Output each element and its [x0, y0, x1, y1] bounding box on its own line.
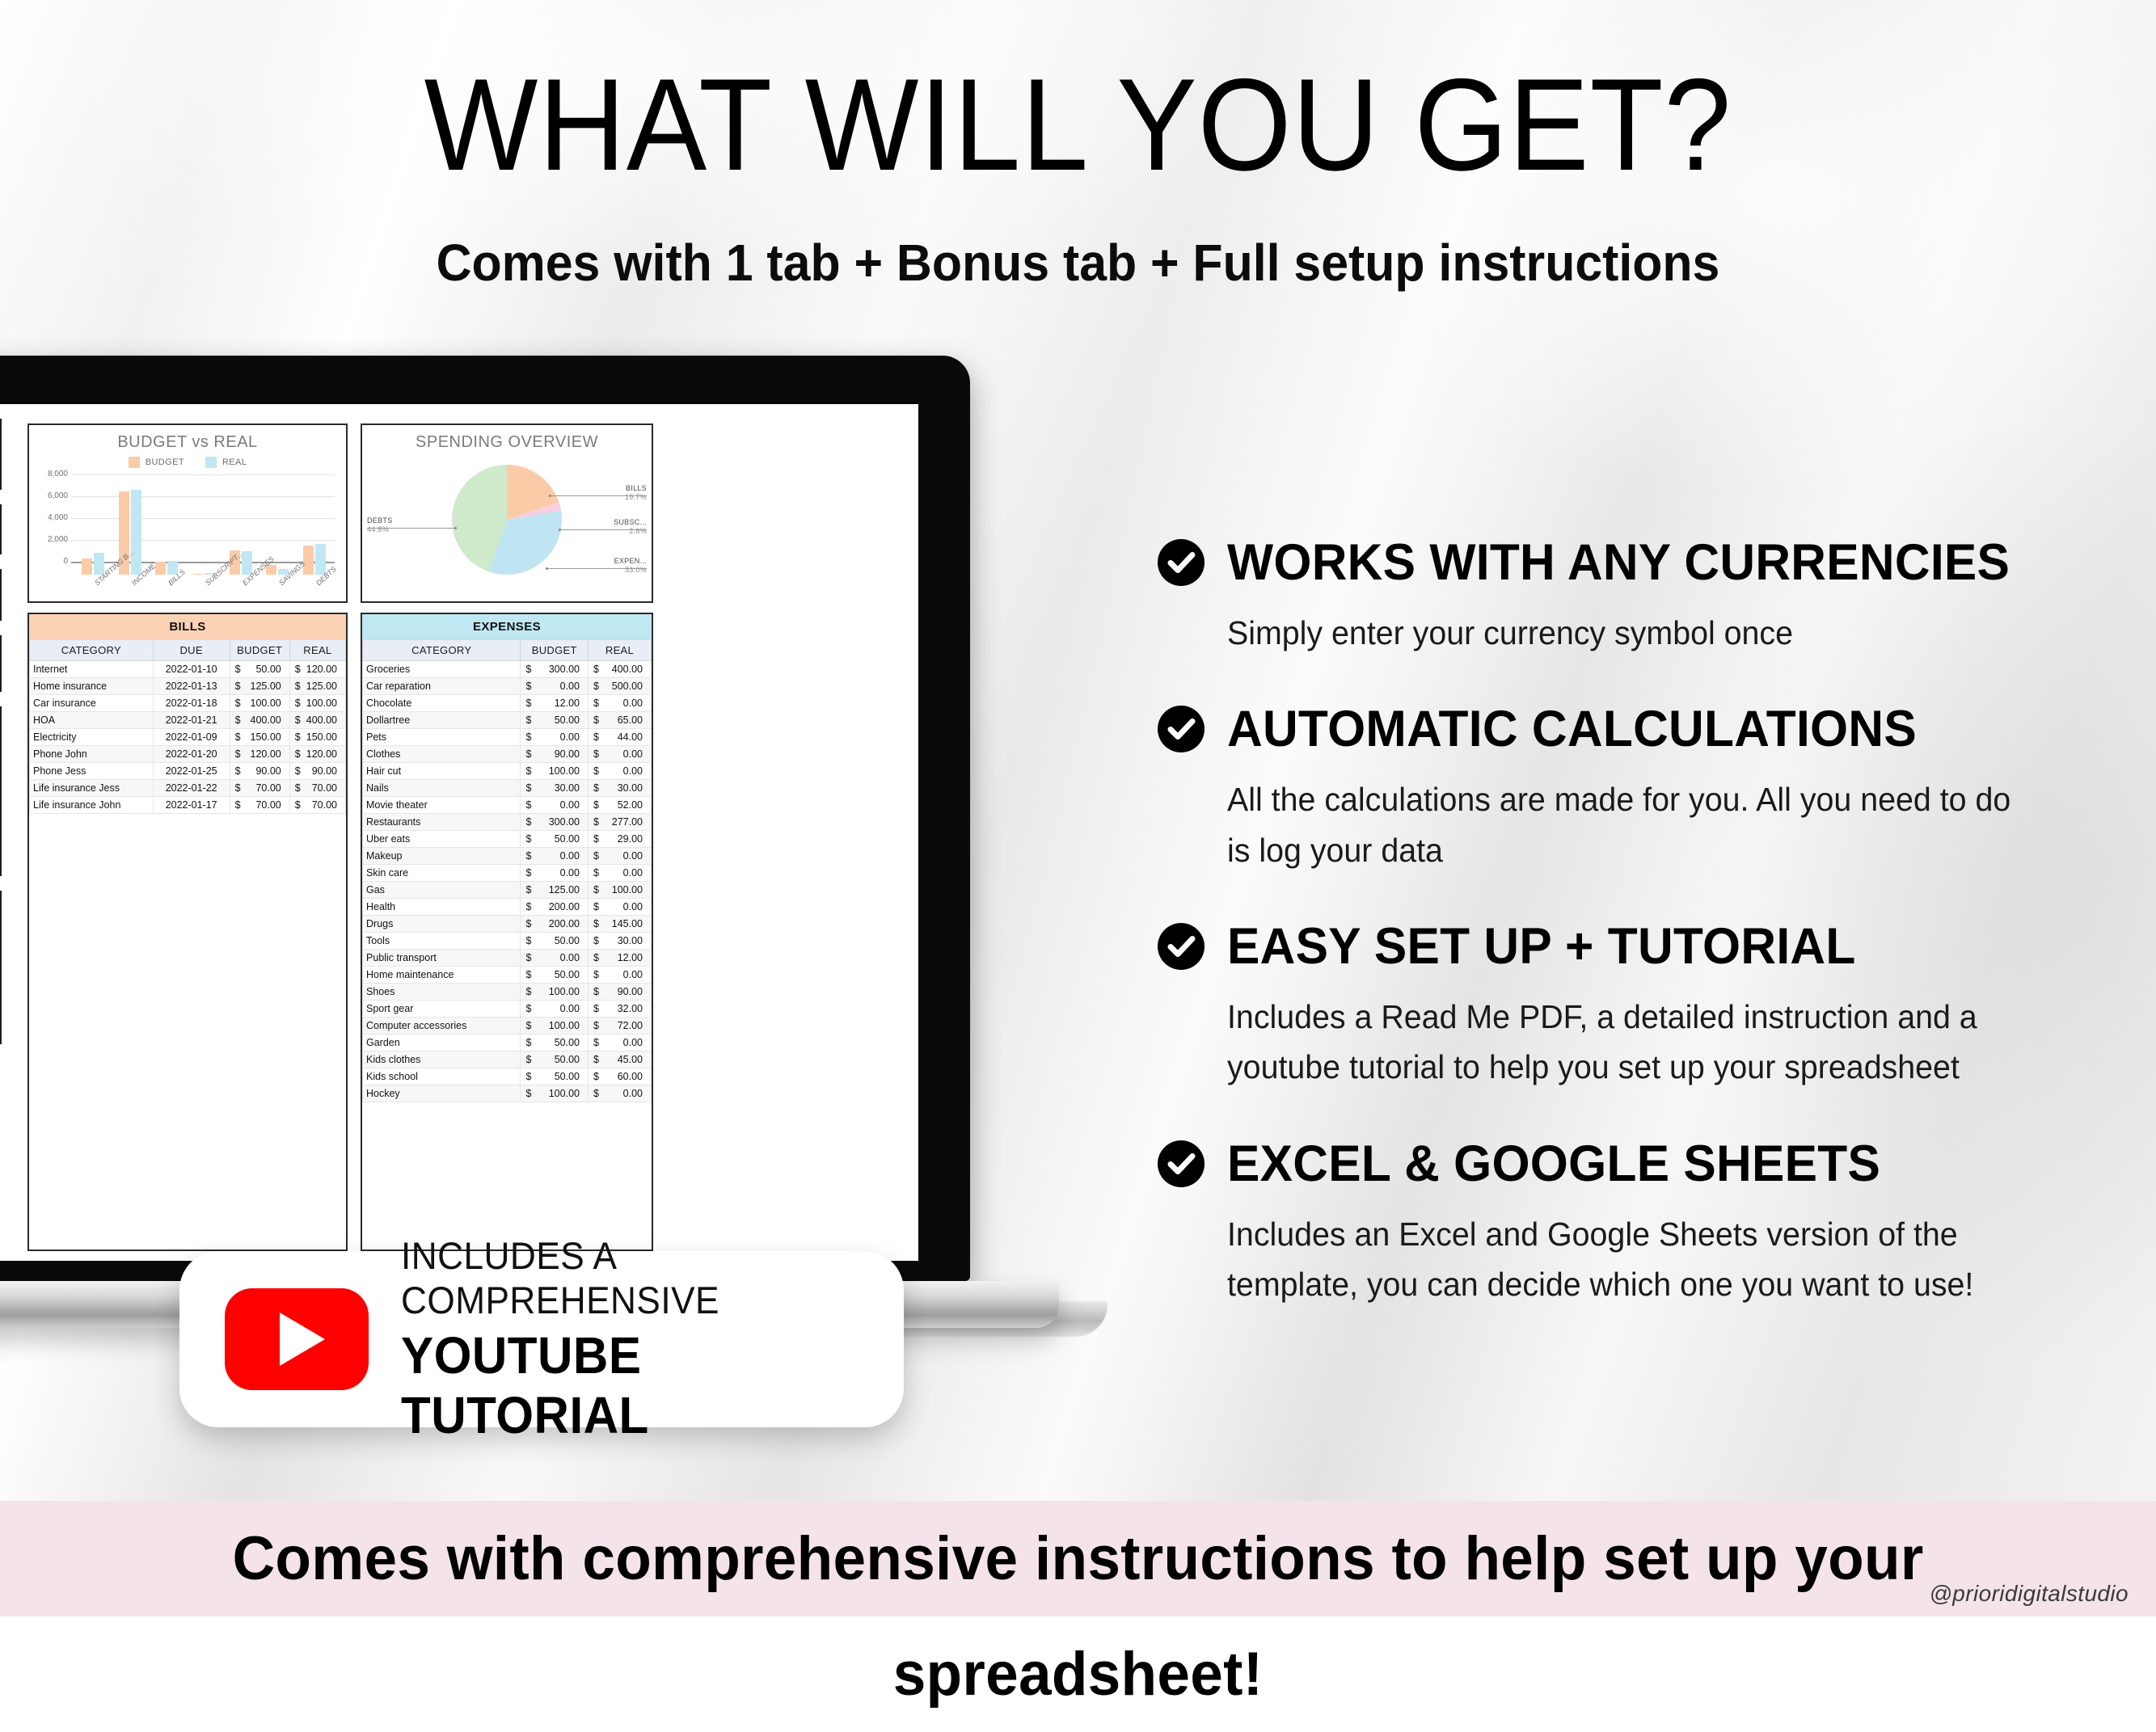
table-row: Uber eats$50.00$29.00: [363, 831, 652, 848]
cell-budget: $150.00: [230, 729, 289, 746]
cell-real: $400.00: [289, 712, 345, 729]
cell-real: $0.00: [588, 763, 651, 780]
bar-x-tick-label: INCOME: [130, 581, 136, 587]
feature-heading: AUTOMATIC CALCULATIONS: [1158, 700, 2087, 758]
currency-symbol: $: [525, 748, 531, 760]
table-row: Home insurance2022-01-13$125.00$125.00: [30, 678, 346, 695]
expenses-col-category: CATEGORY: [363, 640, 521, 661]
currency-symbol: $: [593, 1088, 599, 1099]
currency-symbol: $: [525, 867, 531, 879]
table-row: Garden$50.00$0.00: [363, 1035, 652, 1051]
currency-symbol: $: [593, 799, 599, 811]
bar-x-tick-label: SUBSCRIPT...: [204, 581, 209, 587]
bar-x-tick-label: BILLS: [167, 581, 172, 587]
youtube-tutorial-badge[interactable]: INCLUDES A COMPREHENSIVE YOUTUBE TUTORIA…: [179, 1251, 904, 1427]
cell-due: 2022-01-17: [153, 797, 230, 814]
bar-y-tick-label: 2,000: [36, 535, 68, 544]
currency-symbol: $: [525, 714, 531, 726]
table-row: Home maintenance$50.00$0.00: [363, 967, 652, 984]
bar-group: [82, 487, 104, 575]
cell-real: $100.00: [289, 695, 345, 712]
header: WHAT WILL YOU GET? Comes with 1 tab + Bo…: [0, 0, 2156, 293]
currency-symbol: $: [525, 986, 531, 997]
cell-real: $12.00: [588, 950, 651, 967]
currency-symbol: $: [593, 1020, 599, 1031]
table-row: Phone Jess2022-01-25$90.00$90.00: [30, 763, 346, 780]
cell-category: Tools: [363, 933, 521, 950]
table-row: Kids school$50.00$60.00: [363, 1068, 652, 1085]
pie-leader-line: [561, 529, 600, 530]
currency-symbol: $: [235, 681, 241, 692]
table-row: Pets$0.00$44.00: [363, 729, 652, 746]
cell-category: Sport gear: [363, 1001, 521, 1018]
feature-description: Includes an Excel and Google Sheets vers…: [1227, 1209, 2011, 1310]
bills-col-category: CATEGORY: [30, 640, 154, 661]
currency-symbol: $: [593, 850, 599, 862]
feature-item-0: WORKS WITH ANY CURRENCIESSimply enter yo…: [1158, 533, 2087, 658]
cell-real: $0.00: [588, 865, 651, 882]
feature-item-3: EXCEL & GOOGLE SHEETSIncludes an Excel a…: [1158, 1135, 2087, 1310]
pie-callout-debts: DEBTS 44.8%: [367, 516, 393, 535]
cell-budget: $0.00: [521, 950, 589, 967]
sidebar-fragment: LS: [0, 569, 2, 621]
bar-budget-3: [192, 574, 203, 575]
table-row: Sport gear$0.00$32.00: [363, 1001, 652, 1018]
bar-group: [303, 487, 326, 575]
cell-real: $0.00: [588, 899, 651, 916]
cell-real: $125.00: [289, 678, 345, 695]
pie-value-expenses: 33.0%: [614, 566, 647, 575]
cell-due: 2022-01-13: [153, 678, 230, 695]
cell-category: Life insurance John: [30, 797, 154, 814]
table-row: Computer accessories$100.00$72.00: [363, 1018, 652, 1035]
youtube-badge-line2: YOUTUBE TUTORIAL: [401, 1325, 831, 1445]
legend-item-budget: BUDGET: [129, 457, 184, 468]
cell-budget: $300.00: [521, 661, 589, 678]
cell-budget: $125.00: [521, 882, 589, 899]
cell-real: $44.00: [588, 729, 651, 746]
cell-real: $0.00: [588, 746, 651, 763]
table-row: Electricity2022-01-09$150.00$150.00: [30, 729, 346, 746]
cell-real: $65.00: [588, 712, 651, 729]
bar-y-tick-label: 0: [36, 557, 68, 566]
currency-symbol: $: [295, 782, 301, 794]
currency-symbol: $: [295, 731, 301, 743]
cell-category: Garden: [363, 1035, 521, 1051]
watermark: @prioridigitalstudio: [1929, 1581, 2129, 1607]
currency-symbol: $: [593, 714, 599, 726]
legend-swatch-real: [205, 457, 217, 468]
expenses-col-budget: BUDGET: [521, 640, 589, 661]
bar-budget-0: [82, 558, 92, 575]
budget-vs-real-chart: BUDGET vs REAL BUDGET REAL 02,0004,0006,…: [27, 424, 348, 603]
bar-y-tick-label: 8,000: [36, 470, 68, 478]
feature-list: WORKS WITH ANY CURRENCIESSimply enter yo…: [1158, 533, 2087, 1351]
table-row: Phone John2022-01-20$120.00$120.00: [30, 746, 346, 763]
cell-budget: $300.00: [521, 814, 589, 831]
bar-y-tick-label: 4,000: [36, 513, 68, 522]
cell-real: $100.00: [588, 882, 651, 899]
cell-category: Hockey: [363, 1085, 521, 1102]
laptop-screen-bezel: 1-31 LS AL .00 .00 .00 00: [0, 356, 970, 1281]
currency-symbol: $: [295, 765, 301, 777]
currency-symbol: $: [593, 986, 599, 997]
spreadsheet: 1-31 LS AL .00 .00 .00 00: [0, 404, 918, 1261]
currency-symbol: $: [525, 782, 531, 794]
cell-real: $45.00: [588, 1051, 651, 1068]
feature-item-1: AUTOMATIC CALCULATIONSAll the calculatio…: [1158, 700, 2087, 875]
cell-budget: $50.00: [521, 933, 589, 950]
currency-symbol: $: [525, 799, 531, 811]
currency-symbol: $: [295, 697, 301, 709]
pie-callout-bills: BILLS 19.7%: [625, 484, 647, 503]
cell-real: $30.00: [588, 933, 651, 950]
table-row: Kids clothes$50.00$45.00: [363, 1051, 652, 1068]
table-row: Shoes$100.00$90.00: [363, 984, 652, 1001]
table-row: Life insurance John2022-01-17$70.00$70.0…: [30, 797, 346, 814]
currency-symbol: $: [295, 748, 301, 760]
cell-category: Phone John: [30, 746, 154, 763]
currency-symbol: $: [525, 1071, 531, 1082]
cell-category: Makeup: [363, 848, 521, 865]
currency-symbol: $: [525, 765, 531, 777]
table-row: Hair cut$100.00$0.00: [363, 763, 652, 780]
cell-real: $52.00: [588, 797, 651, 814]
bar-budget-6: [303, 546, 314, 575]
currency-symbol: $: [525, 935, 531, 946]
currency-symbol: $: [593, 833, 599, 845]
sidebar-fragment: [0, 635, 2, 692]
cell-category: Car reparation: [363, 678, 521, 695]
currency-symbol: $: [593, 748, 599, 760]
youtube-badge-line1: INCLUDES A COMPREHENSIVE: [401, 1233, 831, 1322]
cell-budget: $70.00: [230, 797, 289, 814]
currency-symbol: $: [525, 918, 531, 929]
page-title: WHAT WILL YOU GET?: [86, 60, 2070, 191]
cell-category: Gas: [363, 882, 521, 899]
table-row: Restaurants$300.00$277.00: [363, 814, 652, 831]
table-row: Tools$50.00$30.00: [363, 933, 652, 950]
feature-title: EASY SET UP + TUTORIAL: [1227, 917, 1856, 976]
cell-real: $32.00: [588, 1001, 651, 1018]
feature-heading: EASY SET UP + TUTORIAL: [1158, 917, 2087, 976]
cell-real: $0.00: [588, 695, 651, 712]
cell-category: Chocolate: [363, 695, 521, 712]
cell-real: $145.00: [588, 916, 651, 933]
cell-budget: $90.00: [521, 746, 589, 763]
cell-category: Shoes: [363, 984, 521, 1001]
cell-category: Hair cut: [363, 763, 521, 780]
pie-callout-rule: [600, 529, 647, 530]
currency-symbol: $: [525, 816, 531, 828]
cell-real: $500.00: [588, 678, 651, 695]
cell-budget: $400.00: [230, 712, 289, 729]
table-row: Nails$30.00$30.00: [363, 780, 652, 797]
spreadsheet-viewport: 1-31 LS AL .00 .00 .00 00: [0, 404, 918, 1261]
cell-category: Dollartree: [363, 712, 521, 729]
cell-budget: $0.00: [521, 865, 589, 882]
expenses-col-real: REAL: [588, 640, 651, 661]
expenses-table-header-row: CATEGORYBUDGETREAL: [363, 640, 652, 661]
cell-category: Kids school: [363, 1068, 521, 1085]
cell-category: Groceries: [363, 661, 521, 678]
check-circle-icon: [1158, 706, 1205, 752]
cell-due: 2022-01-10: [153, 661, 230, 678]
cell-budget: $50.00: [230, 661, 289, 678]
cell-category: Computer accessories: [363, 1018, 521, 1035]
pie-label-bills: BILLS: [626, 484, 647, 492]
currency-symbol: $: [593, 918, 599, 929]
currency-symbol: $: [235, 765, 241, 777]
cell-real: $70.00: [289, 780, 345, 797]
feature-description: All the calculations are made for you. A…: [1227, 774, 2011, 875]
table-row: Movie theater$0.00$52.00: [363, 797, 652, 814]
cell-category: Life insurance Jess: [30, 780, 154, 797]
bar-x-tick-label: SAVINGS: [277, 581, 283, 587]
currency-symbol: $: [525, 1020, 531, 1031]
page-subtitle: Comes with 1 tab + Bonus tab + Full setu…: [54, 233, 2103, 293]
cell-real: $72.00: [588, 1018, 651, 1035]
table-row: Clothes$90.00$0.00: [363, 746, 652, 763]
pie-leader-dot: [454, 527, 457, 529]
cell-budget: $100.00: [521, 984, 589, 1001]
currency-symbol: $: [295, 799, 301, 811]
table-row: Skin care$0.00$0.00: [363, 865, 652, 882]
bills-col-budget: BUDGET: [230, 640, 289, 661]
cell-category: Uber eats: [363, 831, 521, 848]
currency-symbol: $: [593, 1054, 599, 1065]
feature-heading: EXCEL & GOOGLE SHEETS: [1158, 1135, 2087, 1193]
cell-budget: $50.00: [521, 1068, 589, 1085]
cell-budget: $200.00: [521, 916, 589, 933]
table-row: Car reparation$0.00$500.00: [363, 678, 652, 695]
bar-plot-area: 02,0004,0006,0008,000 STARTING B...INCOM…: [36, 474, 338, 575]
legend-swatch-budget: [129, 457, 140, 468]
cell-category: Phone Jess: [30, 763, 154, 780]
cell-category: Home insurance: [30, 678, 154, 695]
currency-symbol: $: [235, 697, 241, 709]
legend-label-real: REAL: [222, 457, 247, 467]
currency-symbol: $: [593, 816, 599, 828]
cell-budget: $70.00: [230, 780, 289, 797]
cell-category: Movie theater: [363, 797, 521, 814]
cell-category: Nails: [363, 780, 521, 797]
chart-title: BUDGET vs REAL: [29, 433, 346, 452]
currency-symbol: $: [525, 884, 531, 895]
spending-overview-chart: SPENDING OVERVIEW BILLS 19.7% SUBSC... 2: [361, 424, 653, 603]
cell-budget: $0.00: [521, 797, 589, 814]
currency-symbol: $: [593, 1003, 599, 1014]
footer-bar: Comes with comprehensive instructions to…: [0, 1501, 2156, 1616]
table-row: Life insurance Jess2022-01-22$70.00$70.0…: [30, 780, 346, 797]
table-row: Public transport$0.00$12.00: [363, 950, 652, 967]
table-row: Drugs$200.00$145.00: [363, 916, 652, 933]
table-row: Chocolate$12.00$0.00: [363, 695, 652, 712]
cell-category: HOA: [30, 712, 154, 729]
table-row: Hockey$100.00$0.00: [363, 1085, 652, 1102]
pie-callout-rule: [600, 495, 647, 496]
cell-budget: $0.00: [521, 848, 589, 865]
currency-symbol: $: [525, 833, 531, 845]
cell-budget: $100.00: [230, 695, 289, 712]
pie-callout-expenses: EXPEN... 33.0%: [614, 557, 647, 575]
pie-value-subscriptions: 2.6%: [614, 527, 647, 536]
cell-budget: $0.00: [521, 729, 589, 746]
currency-symbol: $: [593, 867, 599, 879]
bar-x-tick-label: STARTING B...: [93, 581, 99, 587]
cell-category: Drugs: [363, 916, 521, 933]
feature-description: Simply enter your currency symbol once: [1227, 608, 2011, 658]
pie-plot-area: BILLS 19.7% SUBSC... 2.6%: [362, 453, 652, 596]
chart-title: SPENDING OVERVIEW: [362, 433, 652, 452]
bar-x-tick-label: EXPENSES: [241, 581, 247, 587]
pie-label-debts: DEBTS: [367, 516, 393, 525]
chart-legend: BUDGET REAL: [29, 457, 346, 468]
cell-due: 2022-01-22: [153, 780, 230, 797]
cell-real: $0.00: [588, 1085, 651, 1102]
currency-symbol: $: [525, 1003, 531, 1014]
currency-symbol: $: [525, 681, 531, 692]
cell-real: $150.00: [289, 729, 345, 746]
bills-col-due: DUE: [153, 640, 230, 661]
cell-budget: $100.00: [521, 763, 589, 780]
currency-symbol: $: [593, 952, 599, 963]
expenses-table-body: Groceries$300.00$400.00Car reparation$0.…: [363, 661, 652, 1102]
cell-real: $70.00: [289, 797, 345, 814]
cell-due: 2022-01-09: [153, 729, 230, 746]
cell-real: $120.00: [289, 746, 345, 763]
currency-symbol: $: [593, 681, 599, 692]
currency-symbol: $: [525, 850, 531, 862]
sidebar-fragment: 1-31: [0, 504, 2, 554]
currency-symbol: $: [593, 664, 599, 675]
cell-budget: $30.00: [521, 780, 589, 797]
expenses-table: EXPENSES CATEGORYBUDGETREAL Groceries$30…: [361, 613, 653, 1251]
cell-category: Health: [363, 899, 521, 916]
currency-symbol: $: [593, 1037, 599, 1048]
cell-budget: $100.00: [521, 1085, 589, 1102]
bills-col-real: REAL: [289, 640, 345, 661]
currency-symbol: $: [593, 901, 599, 912]
currency-symbol: $: [593, 765, 599, 777]
cell-category: Car insurance: [30, 695, 154, 712]
cell-budget: $0.00: [521, 1001, 589, 1018]
table-row: Gas$125.00$100.00: [363, 882, 652, 899]
youtube-play-icon: [225, 1288, 369, 1390]
bills-table-grid: CATEGORYDUEBUDGETREAL Internet2022-01-10…: [29, 639, 346, 814]
currency-symbol: $: [525, 1037, 531, 1048]
pie-value-bills: 19.7%: [625, 493, 647, 502]
bar-x-axis-labels: STARTING B...INCOMEBILLSSUBSCRIPT...EXPE…: [74, 581, 333, 589]
cell-budget: $50.00: [521, 1035, 589, 1051]
currency-symbol: $: [525, 664, 531, 675]
pie-label-expenses: EXPEN...: [614, 557, 647, 565]
cell-due: 2022-01-20: [153, 746, 230, 763]
bar-x-tick-label: DEBTS: [314, 581, 320, 587]
currency-symbol: $: [235, 748, 241, 760]
cell-budget: $12.00: [521, 695, 589, 712]
expenses-table-banner: EXPENSES: [362, 614, 652, 639]
feature-description: Includes a Read Me PDF, a detailed instr…: [1227, 992, 2011, 1093]
spreadsheet-sidebar-fragments: 1-31 LS AL .00 .00 .00 00: [0, 419, 2, 1059]
cell-budget: $200.00: [521, 899, 589, 916]
cell-budget: $90.00: [230, 763, 289, 780]
table-row: Dollartree$50.00$65.00: [363, 712, 652, 729]
cell-real: $400.00: [588, 661, 651, 678]
cell-budget: $50.00: [521, 1051, 589, 1068]
cell-budget: $50.00: [521, 967, 589, 984]
pie-leader-dot: [546, 567, 548, 570]
currency-symbol: $: [525, 1054, 531, 1065]
feature-title: EXCEL & GOOGLE SHEETS: [1227, 1135, 1880, 1193]
bar-gridline: [71, 474, 335, 475]
currency-symbol: $: [295, 714, 301, 726]
check-circle-icon: [1158, 1140, 1205, 1187]
feature-title: AUTOMATIC CALCULATIONS: [1227, 700, 1917, 758]
table-row: Health$200.00$0.00: [363, 899, 652, 916]
currency-symbol: $: [593, 1071, 599, 1082]
cell-budget: $50.00: [521, 712, 589, 729]
currency-symbol: $: [525, 901, 531, 912]
currency-symbol: $: [235, 782, 241, 794]
cell-due: 2022-01-18: [153, 695, 230, 712]
check-circle-icon: [1158, 539, 1205, 586]
cell-real: $0.00: [588, 967, 651, 984]
currency-symbol: $: [525, 952, 531, 963]
currency-symbol: $: [235, 731, 241, 743]
cell-budget: $0.00: [521, 678, 589, 695]
cell-budget: $125.00: [230, 678, 289, 695]
table-row: Makeup$0.00$0.00: [363, 848, 652, 865]
table-row: Groceries$300.00$400.00: [363, 661, 652, 678]
youtube-badge-text: INCLUDES A COMPREHENSIVE YOUTUBE TUTORIA…: [401, 1233, 859, 1445]
cell-category: Electricity: [30, 729, 154, 746]
cell-due: 2022-01-25: [153, 763, 230, 780]
bar-group: [192, 487, 215, 575]
check-circle-icon: [1158, 923, 1205, 970]
currency-symbol: $: [525, 1088, 531, 1099]
currency-symbol: $: [593, 969, 599, 980]
bar-budget-2: [155, 562, 166, 575]
pie-leader-line: [407, 528, 454, 529]
pie-leader-line: [551, 495, 600, 496]
cell-category: Restaurants: [363, 814, 521, 831]
cell-budget: $100.00: [521, 1018, 589, 1035]
cell-real: $0.00: [588, 848, 651, 865]
bills-table-banner: BILLS: [29, 614, 346, 639]
bills-table: BILLS CATEGORYDUEBUDGETREAL Internet2022…: [27, 613, 348, 1251]
table-row: HOA2022-01-21$400.00$400.00: [30, 712, 346, 729]
feature-item-2: EASY SET UP + TUTORIALIncludes a Read Me…: [1158, 917, 2087, 1093]
cell-category: Clothes: [363, 746, 521, 763]
cell-category: Home maintenance: [363, 967, 521, 984]
currency-symbol: $: [525, 969, 531, 980]
legend-item-real: REAL: [205, 457, 247, 468]
currency-symbol: $: [593, 731, 599, 743]
currency-symbol: $: [593, 884, 599, 895]
currency-symbol: $: [525, 697, 531, 709]
sidebar-fragment: .00 .00 00 00: [0, 891, 2, 1044]
bar-real-6: [315, 544, 326, 575]
cell-due: 2022-01-21: [153, 712, 230, 729]
table-row: Internet2022-01-10$50.00$120.00: [30, 661, 346, 678]
cell-category: Public transport: [363, 950, 521, 967]
cell-real: $90.00: [289, 763, 345, 780]
cell-real: $120.00: [289, 661, 345, 678]
cell-category: Skin care: [363, 865, 521, 882]
cell-real: $29.00: [588, 831, 651, 848]
feature-heading: WORKS WITH ANY CURRENCIES: [1158, 533, 2087, 592]
